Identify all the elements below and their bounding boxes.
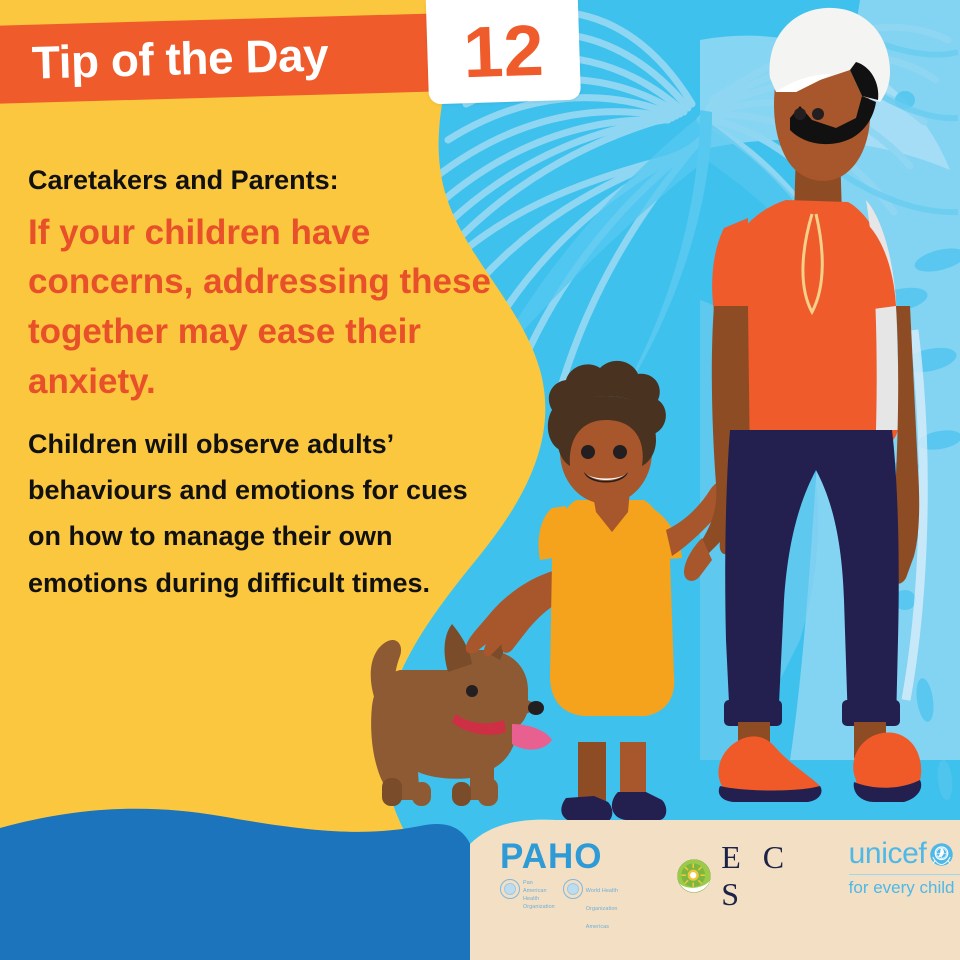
unicef-tagline: for every child: [849, 879, 960, 898]
paho-sublogos: Pan American Health Organization World H…: [500, 879, 639, 933]
unicef-wordmark: unicef: [849, 839, 927, 869]
globe-seal-icon: [500, 879, 520, 899]
banner-label: Tip of the Day: [31, 27, 329, 89]
paho-sub-left-text: Pan American Health Organization: [523, 879, 555, 911]
paho-sub-right-region: Americas: [586, 924, 609, 930]
copy-highlight: If your children have concerns, addressi…: [28, 208, 498, 407]
pan-american-health-organization-seal-unit: Pan American Health Organization: [500, 879, 555, 911]
copy-body: Children will observe adults’ behaviours…: [28, 421, 498, 607]
partner-logo-bar: PAHO Pan American Health Organization Wo…: [470, 825, 960, 960]
poster-canvas: Tip of the Day 12 Caretakers and Parents…: [0, 0, 960, 960]
unicef-top-row: unicef: [849, 839, 960, 869]
paho-wordmark: PAHO: [500, 839, 639, 874]
who-seal-icon: [563, 879, 583, 899]
unicef-globe-emblem-icon: [929, 842, 954, 867]
day-number: 12: [426, 14, 580, 91]
ecs-sun-emblem-icon: [675, 857, 713, 895]
ecs-logo: E C S: [675, 839, 810, 913]
unicef-divider: [849, 874, 960, 875]
world-health-organization-seal-unit: World Health Organization Americas: [563, 879, 639, 933]
ecs-wordmark: E C S: [721, 839, 810, 913]
paho-logo: PAHO Pan American Health Organization Wo…: [500, 839, 639, 933]
day-number-card: 12: [425, 0, 581, 104]
unicef-logo: unicef: [849, 839, 960, 898]
message-block: Caretakers and Parents: If your children…: [28, 164, 498, 606]
copy-eyebrow: Caretakers and Parents:: [28, 164, 498, 198]
paho-sub-right-text: World Health Organization: [586, 888, 618, 912]
